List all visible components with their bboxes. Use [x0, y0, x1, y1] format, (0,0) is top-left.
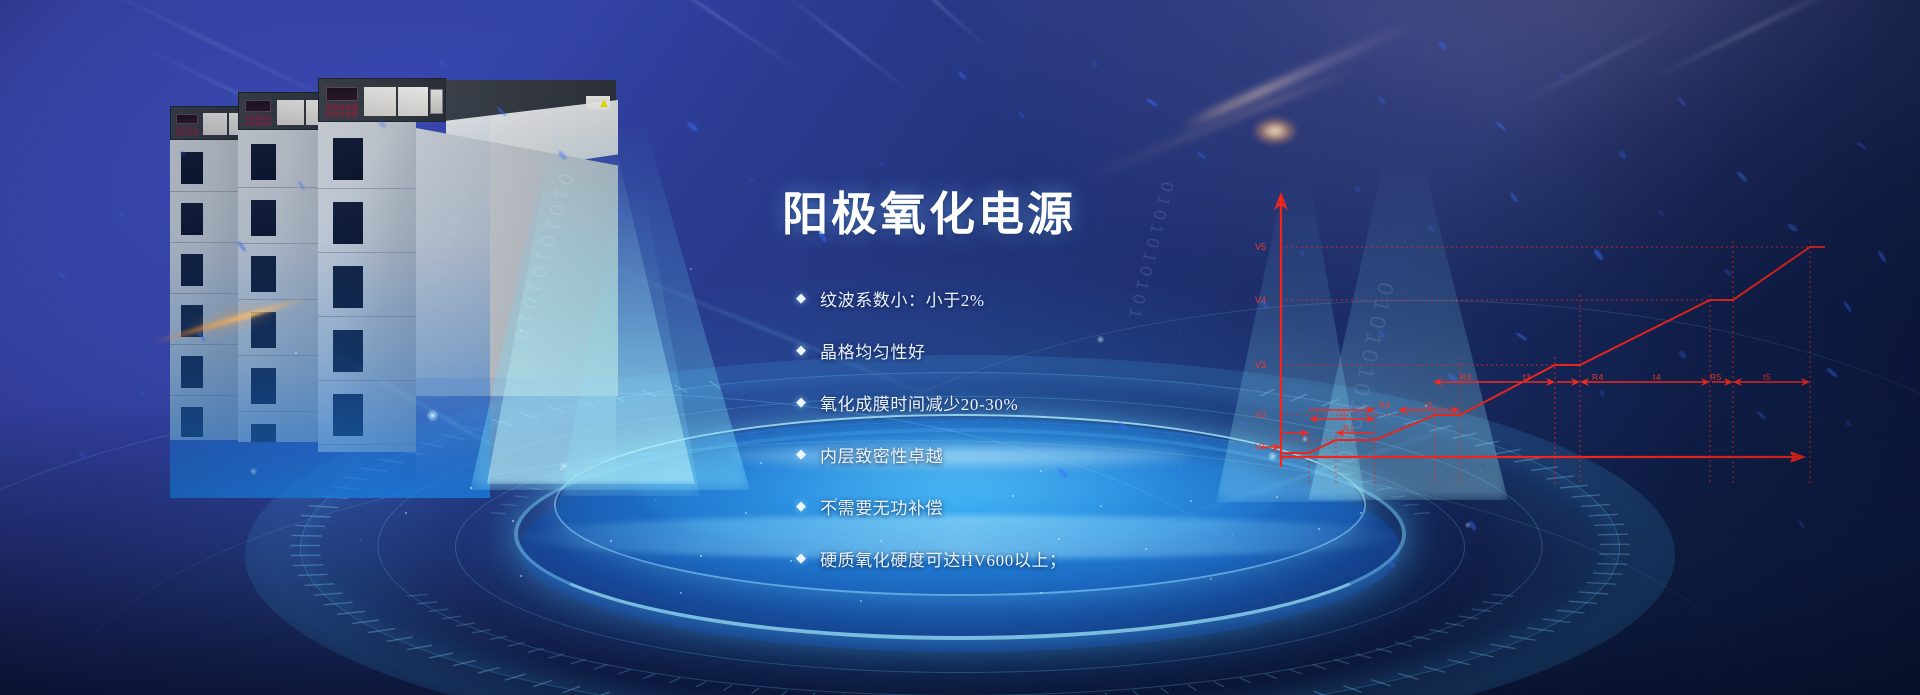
chart-dim-row-2: R2 t2 [1309, 400, 1460, 414]
diamond-bullet-icon: ◆ [796, 550, 807, 566]
list-item: ◆ 氧化成膜时间减少20-30% [796, 390, 1316, 442]
list-item-label: 氧化成膜时间减少20-30% [820, 390, 1018, 415]
warning-triangle-icon [600, 99, 608, 107]
cabinet-body [318, 122, 416, 452]
cabinet-breaker [430, 89, 443, 114]
cabinet-control-panel [318, 78, 446, 122]
cabinet-vent-window [251, 424, 276, 442]
cabinet-vent-window [333, 266, 363, 308]
diamond-bullet-icon: ◆ [796, 342, 807, 358]
cabinet-keypad [326, 104, 358, 117]
list-item-label: 晶格均匀性好 [820, 338, 926, 363]
lens-flare-core [1254, 118, 1296, 144]
cabinet-vent-window [181, 254, 203, 286]
banner-stage: 01010101010 0101010101 010101010101 0101… [0, 0, 1920, 695]
cabinet-nameplate [277, 100, 304, 125]
chart-dim-row-1b: t1 [1309, 409, 1375, 423]
cabinet-vent-window [181, 407, 203, 437]
list-item-label: 纹波系数小：小于2% [820, 286, 985, 311]
cabinet-body [238, 130, 320, 442]
chart-segment-label: t5 [1763, 372, 1771, 382]
list-item-label: 硬质氧化硬度可达HV600以上； [820, 546, 1067, 571]
cabinet-display [326, 87, 358, 101]
cabinet-vent-window [251, 200, 276, 236]
page-title: 阳极氧化电源 [782, 178, 1076, 244]
chart-voltage-gridlines [1281, 247, 1810, 440]
chart-time-gridlines [1309, 241, 1810, 485]
cabinet-nameplate [398, 87, 428, 116]
chart-step-waveform [1283, 247, 1825, 453]
chart-segment-label: R1 [1343, 423, 1355, 433]
cabinet-keypad [245, 115, 271, 126]
chart-y-tick: V5 [1255, 242, 1266, 252]
diamond-bullet-icon: ◆ [796, 290, 807, 306]
cabinet-keypad [176, 127, 198, 136]
diamond-bullet-icon: ◆ [796, 394, 807, 410]
cabinet-vent-window [333, 330, 363, 372]
cabinet-vent-window [333, 138, 363, 180]
voltage-step-chart: R1 t1 R2 t2 [1255, 185, 1825, 505]
cabinet-display [245, 100, 271, 112]
chart-segment-label: R5 [1710, 372, 1722, 382]
cabinet-vent-window [251, 144, 276, 180]
cabinet-nameplate [203, 113, 227, 135]
cabinet-vent-window [181, 203, 203, 235]
cabinet-vent-window [333, 202, 363, 244]
cabinet-nameplate [364, 87, 396, 116]
warning-sticker [586, 96, 610, 110]
chart-dim-row-3: R3 t3 R4 t4 R5 t5 [1433, 372, 1810, 386]
list-item: ◆ 内层致密性卓越 [796, 442, 1316, 494]
feature-list: ◆ 纹波系数小：小于2% ◆ 晶格均匀性好 ◆ 氧化成膜时间减少20-30% ◆… [796, 286, 1316, 598]
chart-segment-label: t2 [1425, 400, 1433, 410]
diamond-bullet-icon: ◆ [796, 446, 807, 462]
cabinet-vent-window [251, 256, 276, 292]
chart-segment-label: R4 [1592, 372, 1604, 382]
chart-segment-label: t4 [1653, 372, 1661, 382]
list-item: ◆ 纹波系数小：小于2% [796, 286, 1316, 338]
diamond-bullet-icon: ◆ [796, 498, 807, 514]
cabinet-body [170, 140, 242, 440]
cabinet-vent-window [181, 152, 203, 184]
cabinet-vent-window [181, 356, 203, 388]
cabinet-vent-window [333, 394, 363, 436]
cabinet-display [176, 114, 198, 124]
cabinet-vent-window [251, 368, 276, 404]
list-item-label: 不需要无功补偿 [820, 494, 943, 519]
chart-segment-label: t3 [1523, 372, 1531, 382]
list-item: ◆ 硬质氧化硬度可达HV600以上； [796, 546, 1316, 598]
list-item: ◆ 不需要无功补偿 [796, 494, 1316, 546]
chart-segment-label: R3 [1460, 372, 1472, 382]
chart-segment-label: R2 [1379, 400, 1391, 410]
list-item-label: 内层致密性卓越 [820, 442, 943, 467]
list-item: ◆ 晶格均匀性好 [796, 338, 1316, 390]
